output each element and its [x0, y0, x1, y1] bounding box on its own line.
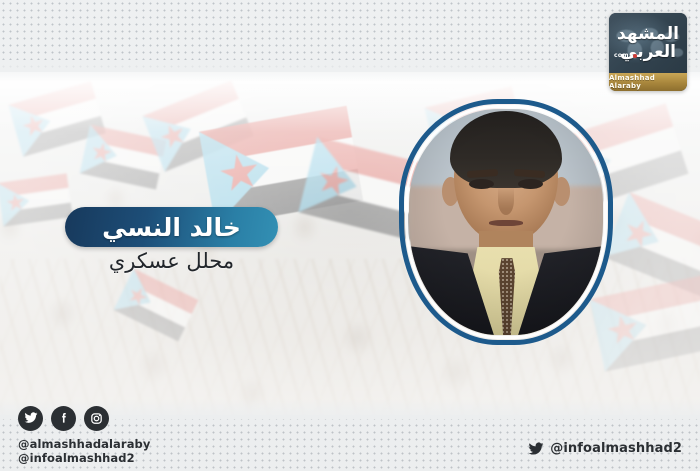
logo-gold-bar: Almashhad Alaraby — [609, 73, 687, 91]
facebook-icon[interactable] — [51, 406, 76, 431]
right-handle[interactable]: @infoalmashhad2 — [550, 441, 682, 456]
halftone-fade-top — [0, 60, 700, 82]
logo-com-label: com. — [614, 52, 631, 59]
footer-left: @almashhadalaraby @infoalmashhad2 — [18, 406, 150, 465]
subject-job-title: محلل عسكري — [65, 250, 278, 273]
logo-panel: المشهد العربي com. — [609, 13, 687, 73]
twitter-icon[interactable] — [18, 406, 43, 431]
portrait-frame — [399, 99, 613, 345]
social-icons-row — [18, 406, 150, 431]
logo-arabic-line1: المشهد — [617, 26, 679, 43]
almashhad-alaraby-logo[interactable]: المشهد العربي com. Almashhad Alaraby — [609, 13, 687, 91]
logo-bottom-label: Almashhad Alaraby — [609, 74, 687, 90]
promo-card: المشهد العربي com. Almashhad Alaraby — [0, 0, 700, 471]
subject-name-banner: خالد النسي — [65, 207, 278, 247]
subject-name: خالد النسي — [102, 215, 241, 240]
instagram-icon[interactable] — [84, 406, 109, 431]
handle-primary[interactable]: @almashhadalaraby — [18, 437, 150, 451]
logo-accent-dot-icon — [633, 54, 637, 58]
footer-handles: @almashhadalaraby @infoalmashhad2 — [18, 437, 150, 465]
footer-right: @infoalmashhad2 — [527, 440, 682, 457]
twitter-icon[interactable] — [527, 440, 544, 457]
handle-secondary[interactable]: @infoalmashhad2 — [18, 451, 150, 465]
portrait-outer-ring — [399, 99, 613, 345]
